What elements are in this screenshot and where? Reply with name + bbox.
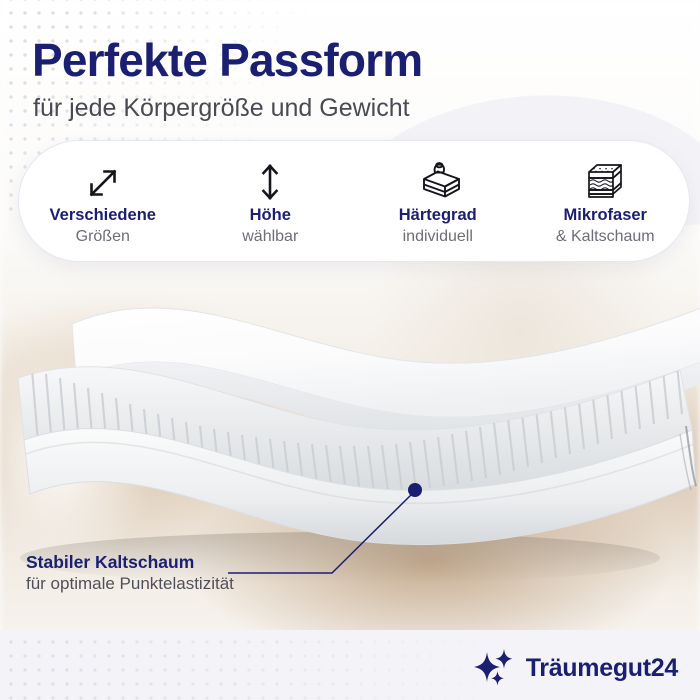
callout-title: Stabiler Kaltschaum <box>26 552 234 573</box>
feature-item-groessen[interactable]: Verschiedene Größen <box>19 157 187 246</box>
feature-panel: Verschiedene Größen Höhe wählbar <box>18 140 690 262</box>
mattress-layers-icon <box>579 157 631 203</box>
feature-title: Härtegrad <box>399 206 477 225</box>
feature-title: Höhe <box>250 206 291 225</box>
feature-item-hoehe[interactable]: Höhe wählbar <box>187 157 355 246</box>
sparkle-stars-icon <box>473 648 519 688</box>
feature-item-mikrofaser[interactable]: Mikrofaser & Kaltschaum <box>522 157 690 246</box>
page-subheadline: für jede Körpergröße und Gewicht <box>33 94 410 123</box>
feature-title: Verschiedene <box>50 206 156 225</box>
feature-subtitle: individuell <box>403 228 473 246</box>
callout-block: Stabiler Kaltschaum für optimale Punktel… <box>26 552 234 594</box>
diagonal-resize-arrow-icon <box>83 157 123 203</box>
feature-item-haertegrad[interactable]: Härtegrad individuell <box>354 157 522 246</box>
feature-subtitle: Größen <box>76 228 130 246</box>
feature-subtitle: & Kaltschaum <box>556 228 655 246</box>
brand-logo[interactable]: Träumegut24 <box>473 648 678 688</box>
mattress-product-image <box>0 258 700 588</box>
mattress-with-weight-icon <box>409 157 467 203</box>
vertical-height-arrow-icon <box>250 157 290 203</box>
feature-title: Mikrofaser <box>564 206 647 225</box>
page-headline: Perfekte Passform <box>32 36 422 84</box>
feature-subtitle: wählbar <box>242 228 298 246</box>
product-banner: Perfekte Passform für jede Körpergröße u… <box>0 0 700 700</box>
brand-name: Träumegut24 <box>526 654 678 683</box>
callout-subtitle: für optimale Punktelastizität <box>26 574 234 594</box>
